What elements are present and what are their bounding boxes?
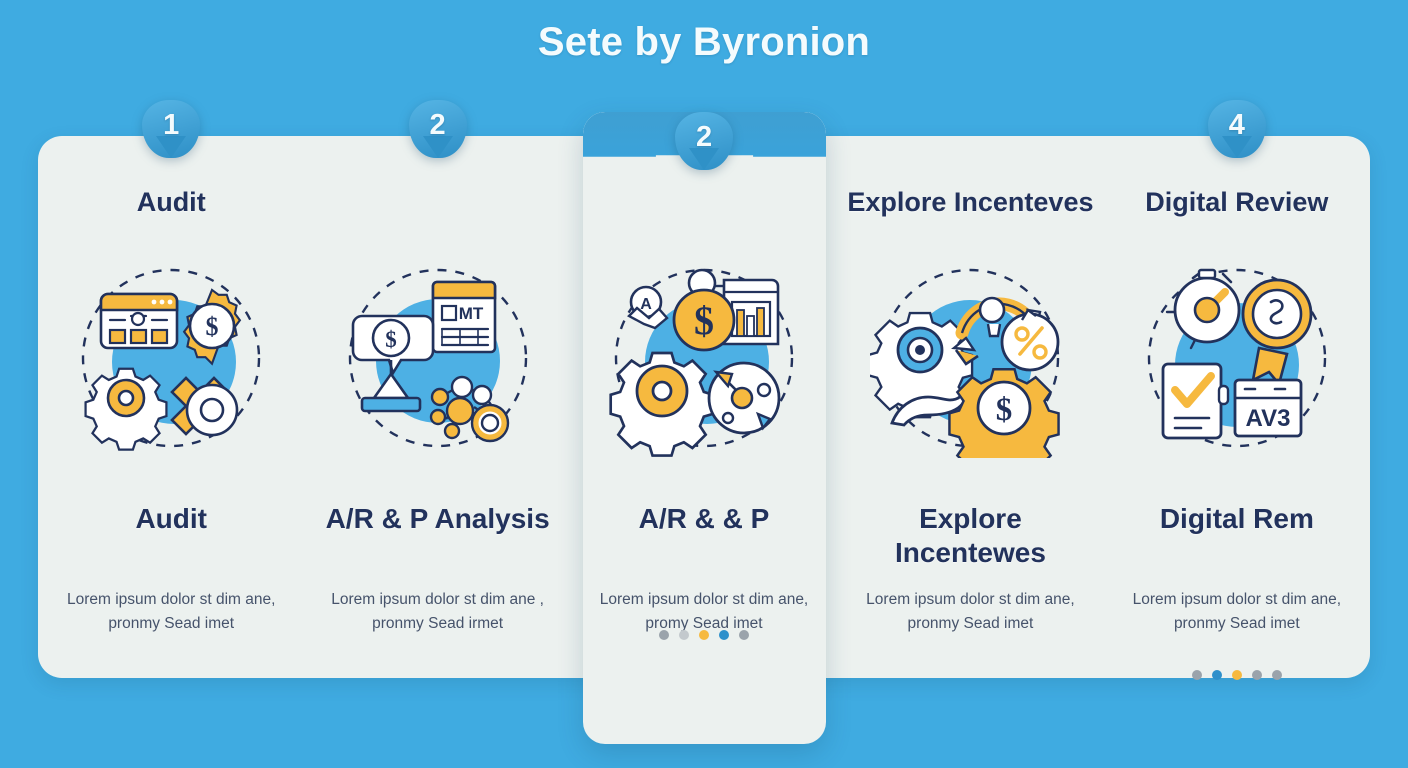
step-title-2: A/R & P Analysis bbox=[304, 502, 570, 536]
step-body-1: Lorem ipsum dolor st dim ane, pronmy Sea… bbox=[38, 588, 304, 636]
carousel-dot[interactable] bbox=[739, 630, 749, 640]
carousel-dot[interactable] bbox=[1252, 670, 1262, 680]
carousel-dot[interactable] bbox=[699, 630, 709, 640]
step-column-2[interactable]: 2 MT $ bbox=[304, 136, 570, 678]
step-title-5: Digital Rem bbox=[1104, 502, 1370, 536]
carousel-dots-right[interactable] bbox=[1104, 670, 1370, 680]
svg-text:$: $ bbox=[694, 298, 714, 343]
coin-chart-gear-target-icon: A $ bbox=[604, 258, 804, 458]
step-body-2: Lorem ipsum dolor st dim ane , pronmy Se… bbox=[304, 588, 570, 636]
carousel-dot[interactable] bbox=[1232, 670, 1242, 680]
step-heading-5: Digital Review bbox=[1104, 186, 1370, 218]
svg-text:$: $ bbox=[385, 327, 397, 352]
step-title-3: A/R & & P bbox=[571, 502, 837, 536]
carousel-dot[interactable] bbox=[1272, 670, 1282, 680]
step-badge-5: 4 bbox=[1208, 100, 1266, 158]
page-title: Sete by Byronion bbox=[0, 20, 1408, 65]
svg-text:$: $ bbox=[996, 392, 1013, 428]
svg-text:AV3: AV3 bbox=[1245, 405, 1290, 432]
carousel-dot-active[interactable] bbox=[719, 630, 729, 640]
step-badge-2: 2 bbox=[409, 100, 467, 158]
carousel-dot[interactable] bbox=[1192, 670, 1202, 680]
step-heading-4: Explore Incenteves bbox=[837, 186, 1103, 218]
carousel-dots-center[interactable] bbox=[571, 630, 837, 640]
step-column-3[interactable]: 2 A $ bbox=[571, 136, 837, 678]
step-title-4: Explore Incentewes bbox=[837, 502, 1103, 570]
step-title-1: Audit bbox=[38, 502, 304, 536]
step-column-1[interactable]: 1 Audit $ bbox=[38, 136, 304, 678]
step-badge-1: 1 bbox=[142, 100, 200, 158]
timer-award-checklist-icon: AV3 bbox=[1137, 258, 1337, 458]
hand-gear-percent-refresh-icon: $ bbox=[870, 258, 1070, 458]
carousel-dot[interactable] bbox=[679, 630, 689, 640]
steps-columns: 1 Audit $ bbox=[38, 136, 1370, 678]
step-column-5[interactable]: 4 Digital Review bbox=[1104, 136, 1370, 678]
step-body-4: Lorem ipsum dolor st dim ane, pronmy Sea… bbox=[837, 588, 1103, 636]
step-heading-1: Audit bbox=[38, 186, 304, 218]
step-body-5: Lorem ipsum dolor st dim ane, pronmy Sea… bbox=[1104, 588, 1370, 636]
svg-text:A: A bbox=[640, 296, 652, 313]
dashboard-gear-dollar-icon: $ bbox=[71, 258, 271, 458]
step-body-3: Lorem ipsum dolor st dim ane, promy Sead… bbox=[571, 588, 837, 636]
carousel-dot-active[interactable] bbox=[1212, 670, 1222, 680]
svg-text:MT: MT bbox=[458, 304, 483, 323]
presentation-document-network-icon: MT $ bbox=[338, 258, 538, 458]
step-column-4[interactable]: Explore Incenteves bbox=[837, 136, 1103, 678]
infographic-stage: Sete by Byronion 1 Audit bbox=[0, 0, 1408, 768]
carousel-dot[interactable] bbox=[659, 630, 669, 640]
step-badge-3: 2 bbox=[675, 112, 733, 170]
svg-text:$: $ bbox=[206, 312, 219, 341]
